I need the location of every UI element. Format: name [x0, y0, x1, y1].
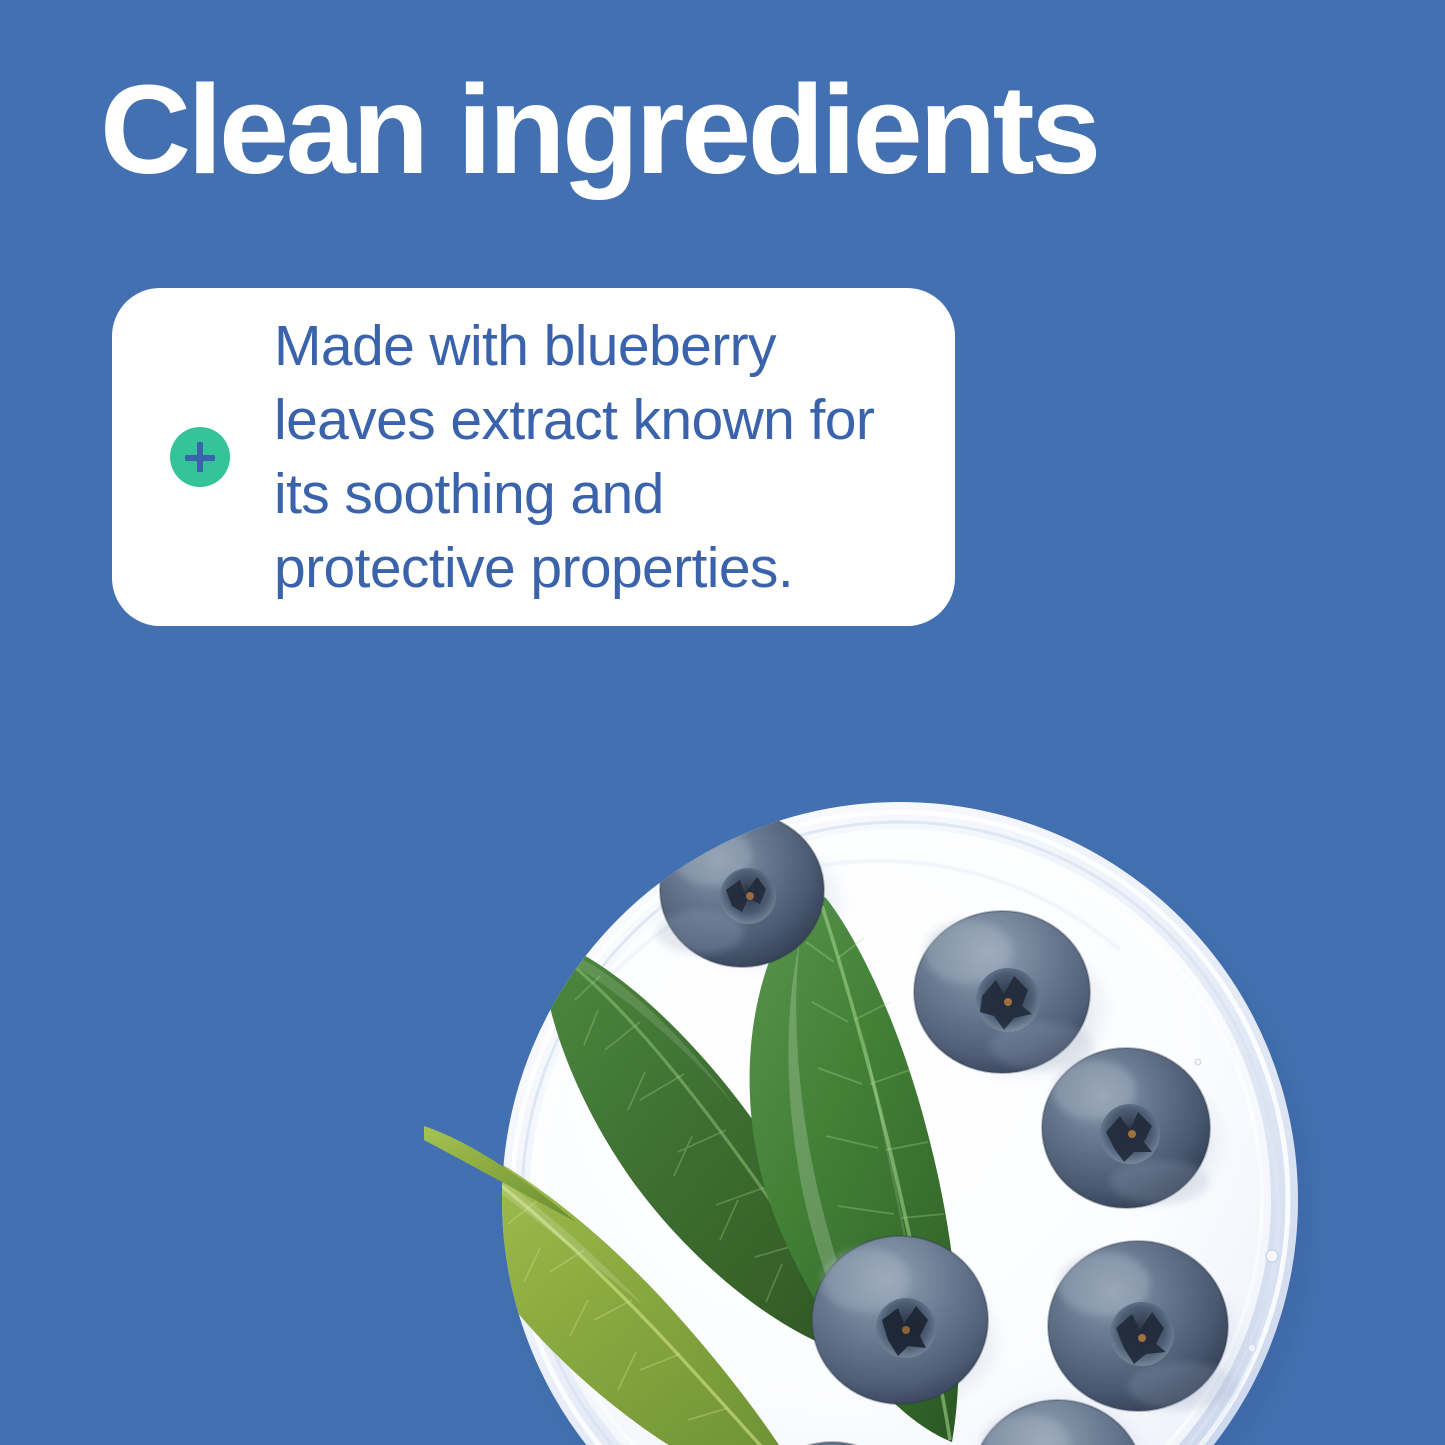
- plus-icon: [170, 427, 230, 487]
- blueberry: [812, 1236, 988, 1404]
- feature-card: Made with blueberry leaves extract known…: [112, 288, 955, 626]
- promo-canvas: Clean ingredients Made with blueberry le…: [0, 0, 1445, 1445]
- feature-card-text: Made with blueberry leaves extract known…: [274, 309, 915, 605]
- blueberry: [1042, 1048, 1210, 1208]
- ingredient-photo: [0, 700, 1445, 1445]
- plus-icon-vertical-bar: [197, 442, 203, 472]
- page-title: Clean ingredients: [100, 62, 1300, 198]
